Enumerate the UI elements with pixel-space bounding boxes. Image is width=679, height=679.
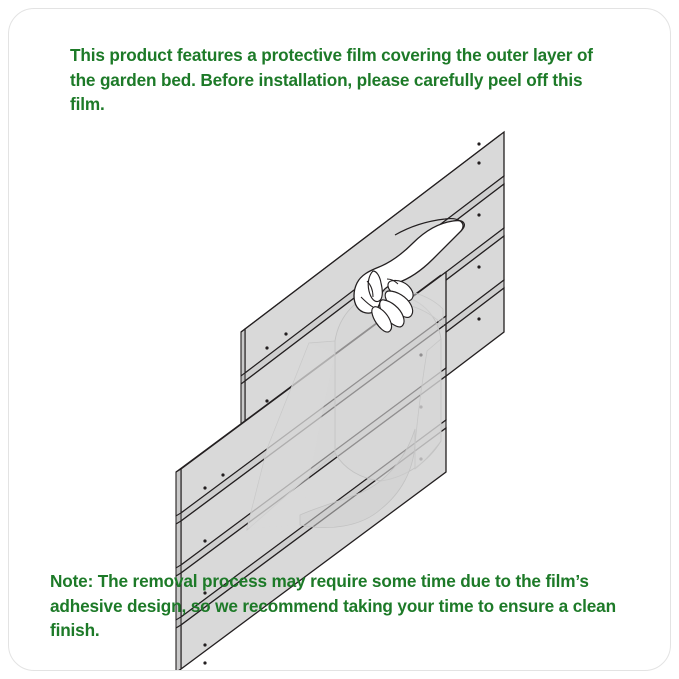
upper-board-4 — [241, 288, 504, 532]
top-instruction-text: This product features a protective film … — [70, 43, 618, 117]
lower-board-2 — [176, 324, 446, 568]
upper-ridge-2 — [241, 228, 504, 436]
upper-rear-panel — [241, 132, 504, 532]
upper-board-1 — [241, 132, 504, 376]
lower-ridge-1 — [176, 316, 446, 524]
hand — [354, 219, 464, 332]
lower-ridge-2 — [176, 368, 446, 576]
instruction-card: This product features a protective film … — [8, 8, 671, 671]
upper-ridge-3 — [241, 280, 504, 488]
bottom-note-text: Note: The removal process may require so… — [50, 569, 640, 643]
upper-board-2 — [241, 184, 504, 428]
lower-board-1 — [176, 272, 446, 516]
upper-ridge-1 — [241, 176, 504, 384]
upper-board-3 — [241, 236, 504, 480]
protective-film — [247, 290, 443, 530]
